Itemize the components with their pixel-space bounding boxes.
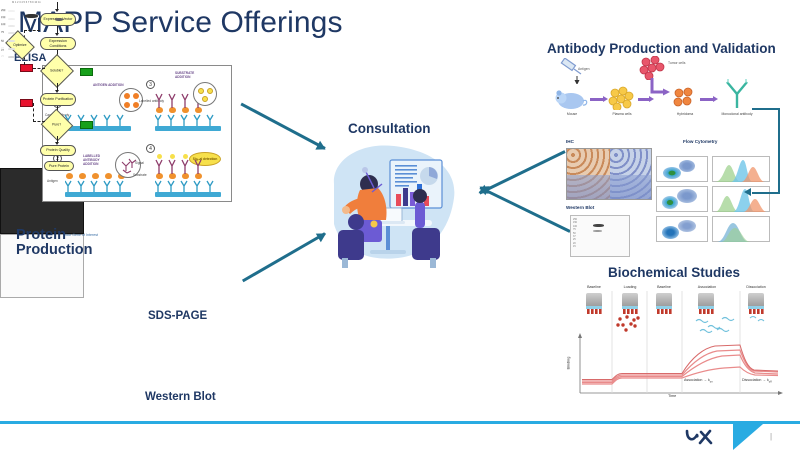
capture-antibody-row <box>65 112 133 127</box>
footer-triangle <box>733 424 763 450</box>
hybridoma-icon <box>672 86 696 110</box>
syringe-icon <box>558 58 592 84</box>
antibody-western-blot-image: 250150100755037252015 <box>570 215 630 257</box>
flow-flag-yes <box>80 121 93 129</box>
antibody-label-mouse: Mouse <box>560 112 584 116</box>
consultation-illustration <box>312 132 472 272</box>
antibody-validation-connector <box>752 108 780 194</box>
antibody-label-antigen: Antigen <box>578 67 590 71</box>
cells-icon <box>608 86 634 110</box>
flow-flag-yes <box>80 68 93 76</box>
elisa-callout-antigen-addition: ANTIGEN ADDITION <box>93 83 124 87</box>
panel-label-flow-cytometry: Flow Cytometry <box>683 139 717 144</box>
arrow-to-elisa <box>240 103 325 150</box>
elisa-bubble-substrate <box>193 82 217 106</box>
workflow-arrow <box>700 98 714 101</box>
section-heading-antibody: Antibody Production and Validation <box>547 41 776 56</box>
flow-flag-no <box>20 99 33 107</box>
protein-top-note: Your Gene of Interest <box>64 233 98 237</box>
elisa-callout-substrate-addition: SUBSTRATE ADDITION <box>175 71 201 79</box>
biochemical-sensorgram-chart: Baseline Loading Baseline Association Di… <box>572 285 784 403</box>
elisa-step-number: 3 <box>146 80 155 89</box>
elisa-callout-labelled-antibody: LABELLED ANTIBODY ADDITION <box>83 154 113 166</box>
fusion-arrow <box>648 78 672 100</box>
ihc-image <box>566 148 652 200</box>
axis-label-binding: Binding <box>566 357 570 370</box>
connector-arrowhead <box>744 188 751 196</box>
arrow-to-biochemical <box>479 186 570 233</box>
antibody-label-plasma-cells: Plasma cells <box>606 112 638 116</box>
antibody-label-monoclonal: Monoclonal antibody <box>718 112 756 116</box>
axis-label-time: Time <box>668 394 676 398</box>
section-heading-biochemical: Biochemical Studies <box>608 265 740 280</box>
antibody-label-tumor-cells: Tumor cells <box>668 61 685 65</box>
panel-label-western-blot: Western Blot <box>566 205 594 210</box>
elisa-diagram: 1 Capture antibody Surface ANTIGEN ADDIT… <box>42 65 232 202</box>
elisa-label-substrate: Substrate <box>133 173 147 177</box>
mouse-icon <box>554 86 588 110</box>
arrow-to-antibody <box>479 150 566 194</box>
annotation-association: Association → kon <box>684 378 713 384</box>
annotation-dissociation: Dissociation → koff <box>742 378 772 384</box>
protein-heading-line1: Protein <box>16 227 66 243</box>
antibody-production-workflow: Antigen Mouse Plasma cells <box>552 58 770 130</box>
capture-antibody-row <box>65 178 133 193</box>
flow-node-protein-purification: Protein Purification <box>40 93 76 106</box>
flow-node-protein-quality: Protein Quality <box>40 145 76 156</box>
gel-label-sds-page: SDS-PAGE <box>148 310 207 322</box>
slide-canvas: MAPP Service Offerings ELISA 1 Capture a… <box>0 0 800 450</box>
elisa-label-antigen: Antigen <box>47 179 58 183</box>
flow-node-pure-protein: Pure Protein <box>44 161 74 171</box>
elisa-label-signal: Signal <box>135 161 144 165</box>
jax-logo <box>684 427 724 447</box>
workflow-arrow <box>590 98 604 101</box>
gel-label-western-blot: Western Blot <box>145 391 216 403</box>
elisa-step-number: 4 <box>146 144 155 153</box>
antibody-label-hybridoma: Hybridoma <box>670 112 700 116</box>
tumor-cells-icon <box>638 56 666 80</box>
protein-heading-line2: Production <box>16 242 93 258</box>
capture-antibody-row <box>155 178 223 193</box>
flow-flag-no <box>20 64 33 72</box>
footer-band <box>0 424 800 450</box>
footer-page-number: | <box>770 432 772 441</box>
flow-node-expression-conditions: Expression Conditions <box>40 37 76 50</box>
labelled-antibody-row <box>155 158 213 175</box>
antibody-icon <box>720 78 754 110</box>
capture-antibody-row <box>155 112 223 127</box>
panel-label-ihc: IHC <box>566 139 574 144</box>
